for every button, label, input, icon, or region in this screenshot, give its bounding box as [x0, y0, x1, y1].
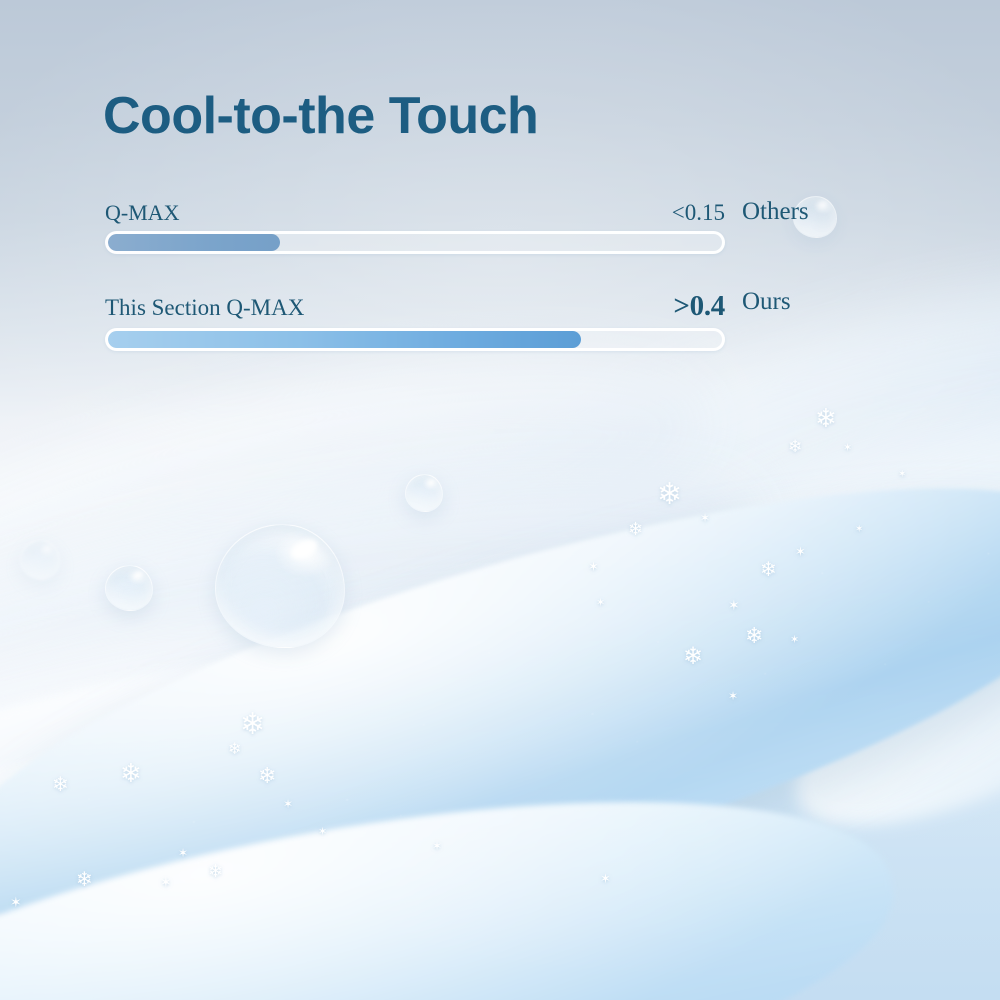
- progress-fill-others: [108, 234, 280, 251]
- qmax-comparison-chart: Q-MAX <0.15 Others This Section Q-MAX >0…: [105, 200, 725, 351]
- progress-fill-ours: [108, 331, 581, 348]
- metric-value-ours: >0.4: [673, 290, 725, 323]
- progress-track-others: [105, 231, 725, 254]
- progress-track-ours: [105, 328, 725, 351]
- series-label-others: Others: [742, 198, 809, 226]
- page-title: Cool-to-the Touch: [103, 86, 538, 146]
- metric-value-others: <0.15: [672, 200, 725, 226]
- metric-label-others: Q-MAX: [105, 200, 180, 226]
- content-overlay: Cool-to-the Touch Q-MAX <0.15 Others Thi…: [0, 0, 1000, 1000]
- series-label-ours: Ours: [742, 288, 791, 316]
- row-header: Q-MAX <0.15: [105, 200, 725, 226]
- row-header: This Section Q-MAX >0.4: [105, 290, 725, 323]
- chart-row-ours: This Section Q-MAX >0.4 Ours: [105, 290, 725, 351]
- metric-label-ours: This Section Q-MAX: [105, 295, 304, 321]
- chart-row-others: Q-MAX <0.15 Others: [105, 200, 725, 254]
